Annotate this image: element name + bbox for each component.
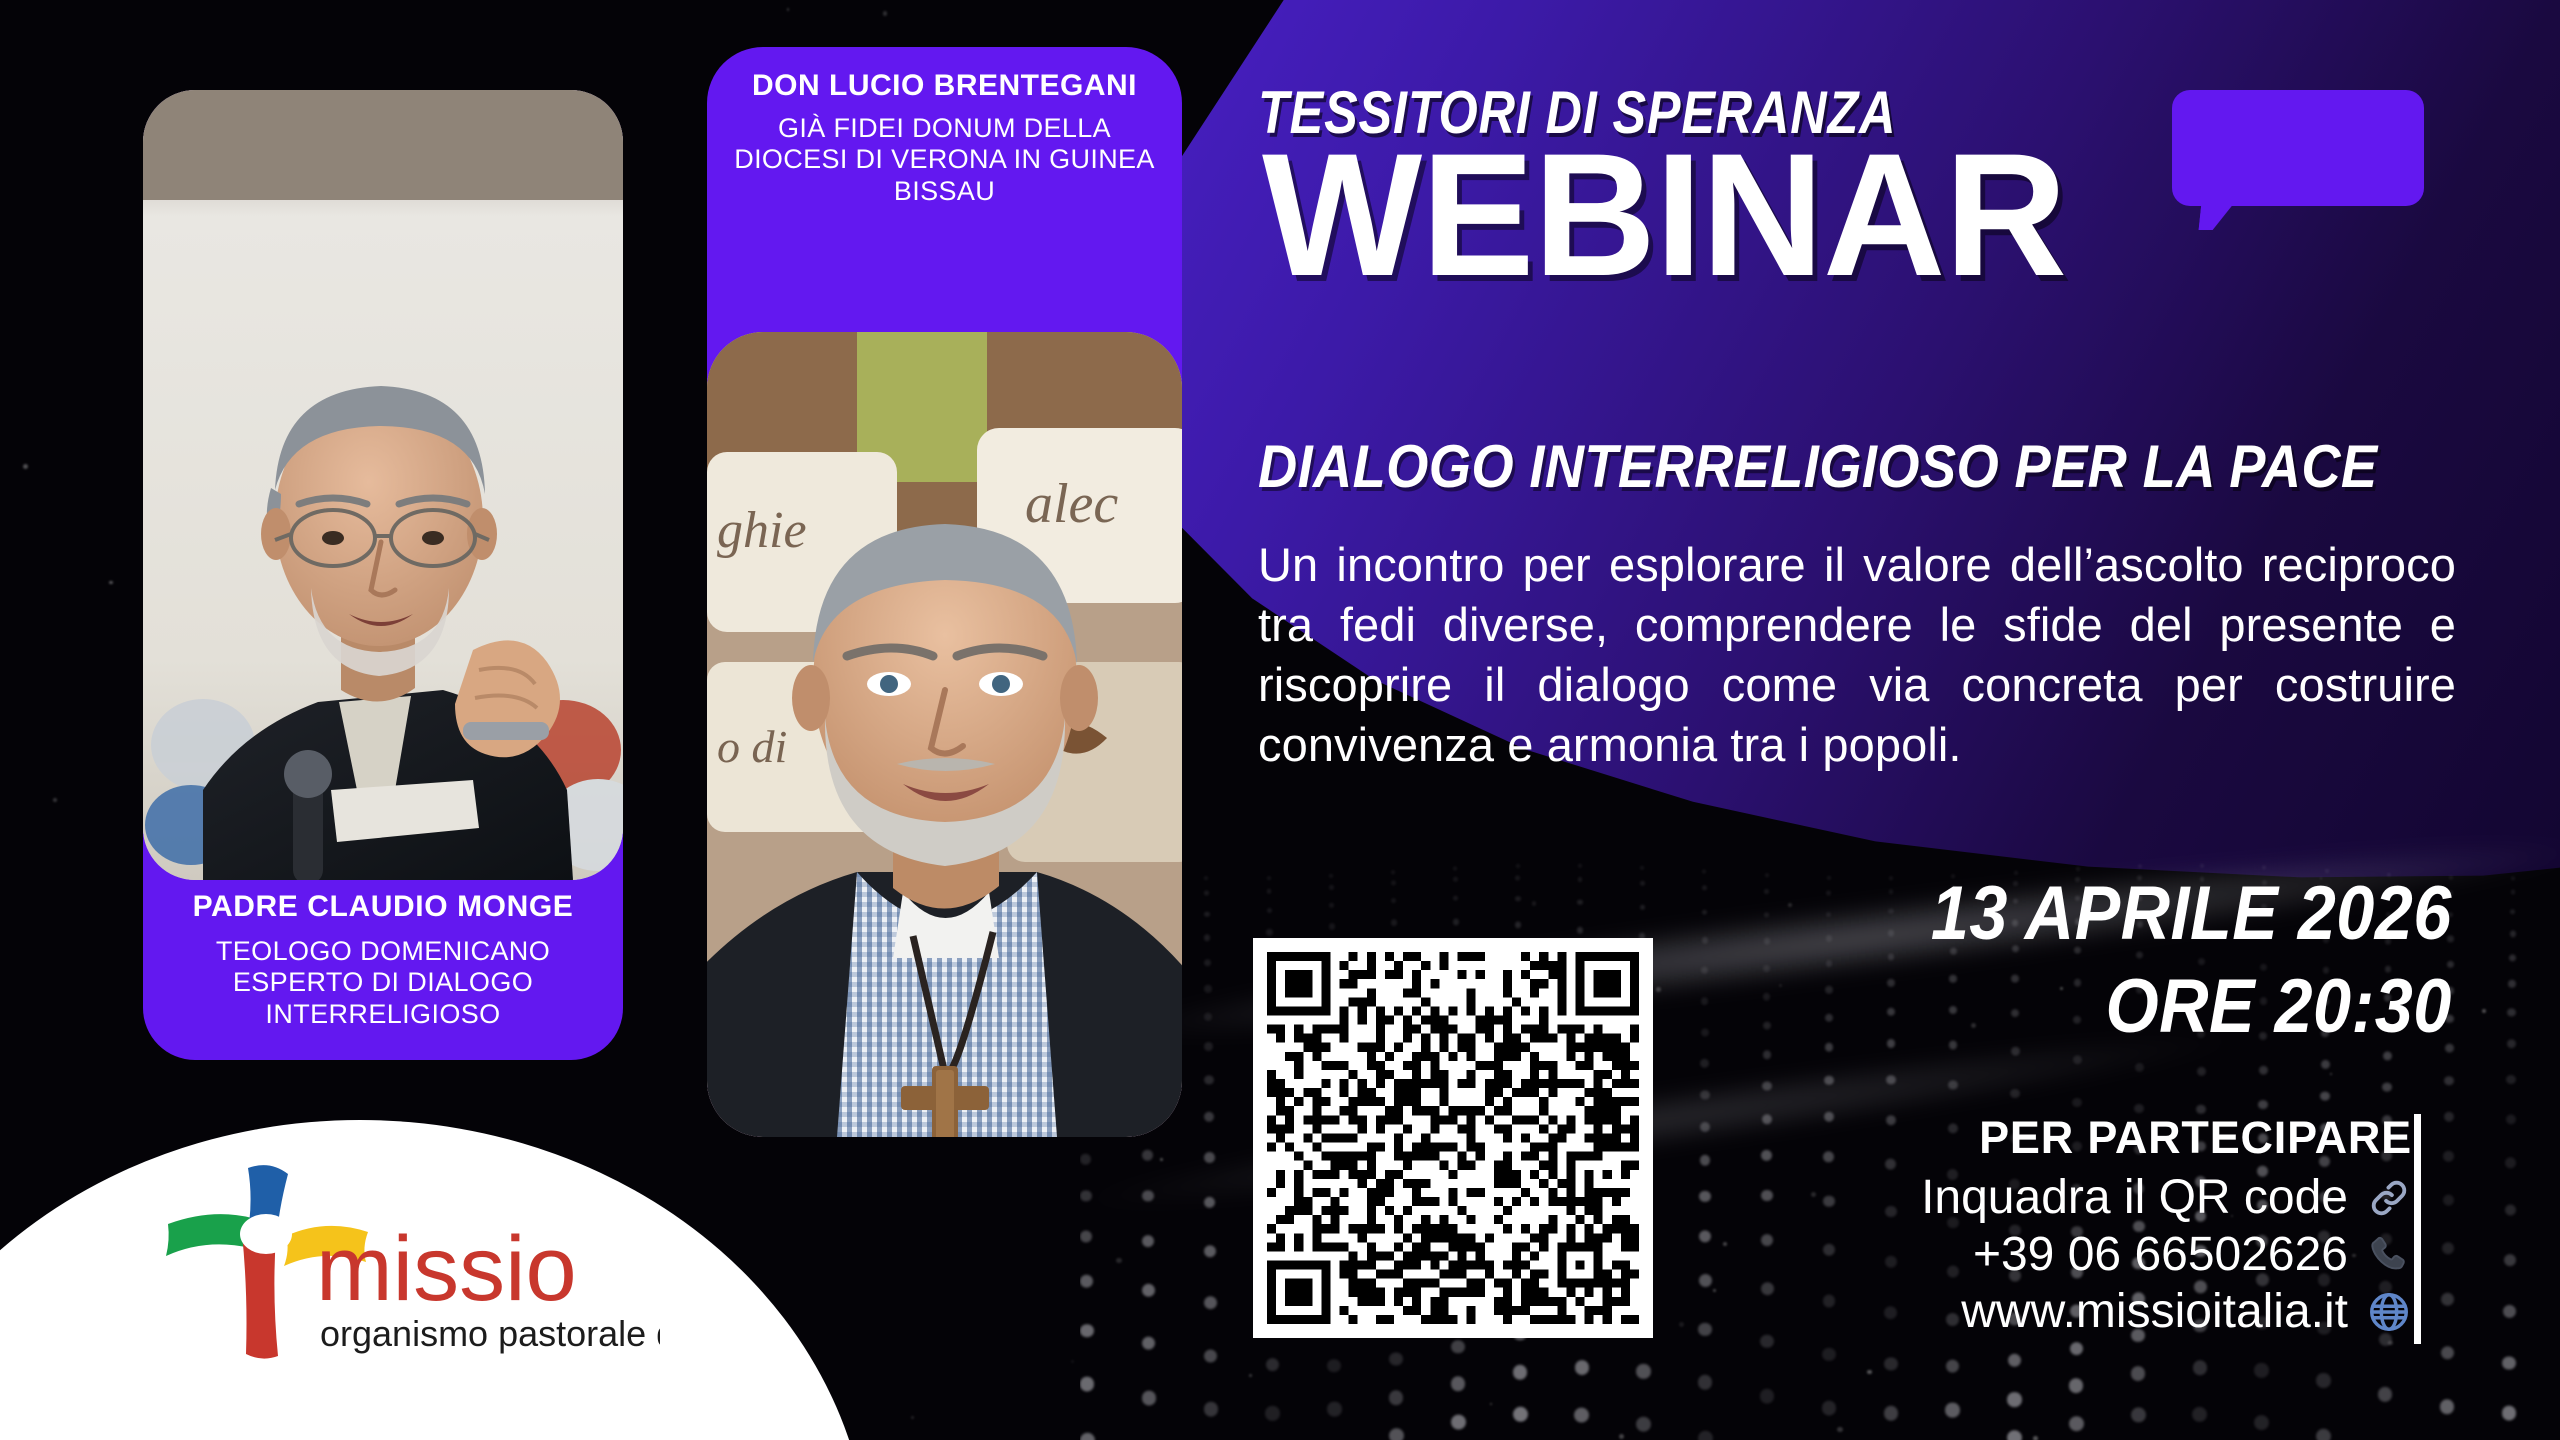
logo-wordmark: missio: [316, 1218, 577, 1320]
logo-tagline: organismo pastorale della CEI: [320, 1313, 660, 1354]
speaker-card-lucio-brentegani: DON LUCIO BRENTEGANI GIÀ FIDEI DONUM DEL…: [707, 47, 1182, 1137]
svg-text:alec: alec: [1025, 473, 1118, 535]
missio-logo-art: missio organismo pastorale della CEI: [120, 1150, 660, 1380]
participate-row-website[interactable]: www.missioitalia.it: [1921, 1284, 2412, 1339]
speech-bubble-icon: [2172, 90, 2424, 206]
participate-qr-label: Inquadra il QR code: [1921, 1170, 2348, 1225]
event-date: 13 APRILE 2026: [1931, 870, 2452, 957]
link-icon: [2366, 1175, 2412, 1221]
globe-icon: [2366, 1289, 2412, 1335]
photo-art-mid: ghie alec o di: [707, 332, 1182, 1137]
speaker-role: GIÀ FIDEI DONUM DELLA DIOCESI DI VERONA …: [719, 113, 1170, 207]
page-subtitle: DIALOGO INTERRELIGIOSO PER LA PACE: [1258, 432, 2377, 501]
logo-stroke-green: [166, 1214, 252, 1256]
don-lucio-brentegani-photo: ghie alec o di: [707, 332, 1182, 1137]
speaker-name: PADRE CLAUDIO MONGE: [159, 890, 607, 924]
participate-heading: PER PARTECIPARE: [1921, 1112, 2412, 1164]
phone-number[interactable]: +39 06 66502626: [1973, 1227, 2348, 1282]
speaker-role: TEOLOGO DOMENICANO ESPERTO DI DIALOGO IN…: [159, 936, 607, 1030]
missio-logo: missio organismo pastorale della CEI: [120, 1150, 660, 1380]
svg-text:ghie: ghie: [717, 502, 807, 559]
page-title: WEBINAR: [1262, 128, 2066, 303]
speaker-card-claudio-monge: PADRE CLAUDIO MONGE TEOLOGO DOMENICANO E…: [143, 90, 623, 1060]
poster-canvas: PADRE CLAUDIO MONGE TEOLOGO DOMENICANO E…: [0, 0, 2560, 1440]
qr-code[interactable]: [1253, 938, 1653, 1338]
website-url[interactable]: www.missioitalia.it: [1961, 1284, 2348, 1339]
event-time: ORE 20:30: [1931, 963, 2452, 1050]
qr-code-canvas[interactable]: [1267, 952, 1639, 1324]
speaker-caption-left: PADRE CLAUDIO MONGE TEOLOGO DOMENICANO E…: [143, 890, 623, 1030]
speaker-caption-mid: DON LUCIO BRENTEGANI GIÀ FIDEI DONUM DEL…: [707, 69, 1182, 207]
participate-block: PER PARTECIPARE Inquadra il QR code +39 …: [1921, 1112, 2412, 1339]
event-datetime: 13 APRILE 2026 ORE 20:30: [1873, 870, 2452, 1050]
svg-text:o di: o di: [717, 721, 787, 772]
description-paragraph: Un incontro per esplorare il valore dell…: [1258, 535, 2456, 776]
participate-row-phone[interactable]: +39 06 66502626: [1921, 1227, 2412, 1282]
phone-icon: [2366, 1232, 2412, 1278]
photo-art-left: [143, 90, 623, 880]
participate-row-qr: Inquadra il QR code: [1921, 1170, 2412, 1225]
speaker-name: DON LUCIO BRENTEGANI: [719, 69, 1170, 103]
vertical-divider: [2414, 1114, 2421, 1344]
padre-claudio-monge-photo: [143, 90, 623, 880]
